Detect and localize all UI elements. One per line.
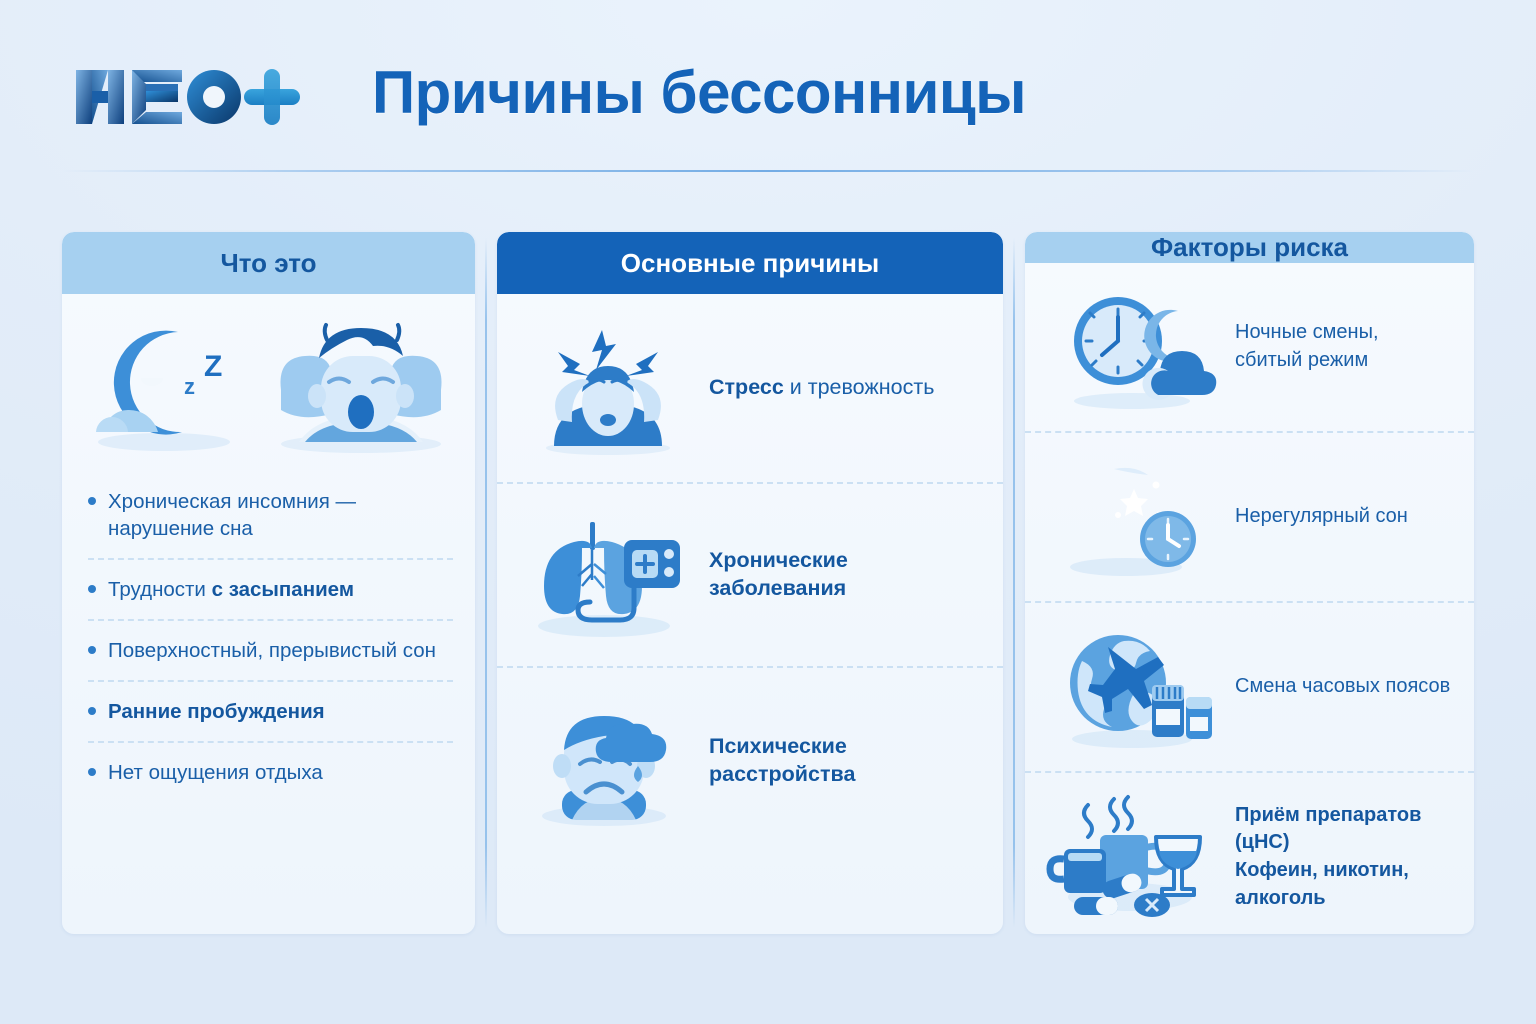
- list-item-label: Ночные смены, сбитый режим: [1235, 319, 1379, 374]
- globe-plane-pills-icon: [1047, 623, 1223, 751]
- card-header-what-is-it: Что это: [62, 232, 475, 294]
- sleeping-moon-icon: Z z: [86, 314, 261, 454]
- what-is-it-list: Хроническая инсомния — нарушение сна Тру…: [62, 466, 475, 802]
- list-item: Ночные смены, сбитый режим: [1025, 263, 1474, 433]
- list-item-label: Смена часовых поясов: [1235, 673, 1450, 701]
- header-divider: [62, 170, 1474, 172]
- list-item-label: Хронические заболевания: [709, 547, 979, 603]
- brand-logo: [74, 62, 304, 132]
- list-item-label: Нет ощущения отдыха: [108, 759, 323, 786]
- columns-board: Что это Z z: [62, 232, 1474, 934]
- lungs-monitor-icon: [523, 510, 693, 640]
- page-header: Причины бессонницы: [0, 0, 1536, 172]
- clock-moon-icon: [1047, 283, 1223, 411]
- list-item: Ранние пробуждения: [88, 682, 453, 743]
- list-item-label: Психические расстройства: [709, 733, 979, 789]
- sad-cloud-person-icon: [523, 694, 693, 828]
- card-main-causes: Основные причины: [497, 232, 1003, 934]
- list-item-label: Трудности с засыпанием: [108, 576, 354, 603]
- card-body-what-is-it: Z z: [62, 294, 475, 934]
- card-header-main-causes: Основные причины: [497, 232, 1003, 294]
- list-item: Нерегулярный сон: [1025, 433, 1474, 603]
- list-item: Смена часовых поясов: [1025, 603, 1474, 773]
- stressed-head-icon: [523, 320, 693, 456]
- list-item: Хронические заболевания: [497, 484, 1003, 668]
- list-item-label: Поверхностный, прерывистый сон: [108, 637, 436, 664]
- bullet-dot: [88, 585, 96, 593]
- list-item: Психические расстройства: [497, 668, 1003, 854]
- card-risk-factors: Факторы риска: [1025, 232, 1474, 934]
- card-what-is-it: Что это Z z: [62, 232, 475, 934]
- list-item-label: Приём препаратов (цНС) Кофеин, никотин, …: [1235, 802, 1456, 912]
- list-item: Нет ощущения отдыха: [88, 743, 453, 802]
- bullet-dot: [88, 646, 96, 654]
- what-is-it-illustrations: Z z: [62, 294, 475, 466]
- yawning-person-icon: [271, 314, 451, 454]
- list-item-label: Стресс и тревожность: [709, 374, 934, 402]
- bullet-dot: [88, 497, 96, 505]
- list-item-label: Нерегулярный сон: [1235, 503, 1408, 531]
- list-item: Трудности с засыпанием: [88, 560, 453, 621]
- list-item: Приём препаратов (цНС) Кофеин, никотин, …: [1025, 773, 1474, 934]
- list-item-label: Хроническая инсомния — нарушение сна: [108, 488, 451, 542]
- card-body-risk-factors: Ночные смены, сбитый режим: [1025, 263, 1474, 934]
- list-item: Поверхностный, прерывистый сон: [88, 621, 453, 682]
- coffee-wine-pills-icon: [1047, 793, 1223, 921]
- page-title: Причины бессонницы: [372, 58, 1026, 127]
- bullet-dot: [88, 768, 96, 776]
- bullet-dot: [88, 707, 96, 715]
- moon-stars-clock-icon: [1047, 453, 1223, 581]
- neo-plus-logo-icon: [74, 64, 304, 130]
- column-divider-2: [1003, 232, 1025, 934]
- svg-text:Z: Z: [204, 350, 222, 383]
- list-item: Хроническая инсомния — нарушение сна: [88, 472, 453, 560]
- card-header-risk-factors: Факторы риска: [1025, 232, 1474, 263]
- list-item: Стресс и тревожность: [497, 294, 1003, 484]
- card-body-main-causes: Стресс и тревожность: [497, 294, 1003, 934]
- svg-text:z: z: [184, 374, 195, 399]
- column-divider-1: [475, 232, 497, 934]
- list-item-label: Ранние пробуждения: [108, 698, 325, 725]
